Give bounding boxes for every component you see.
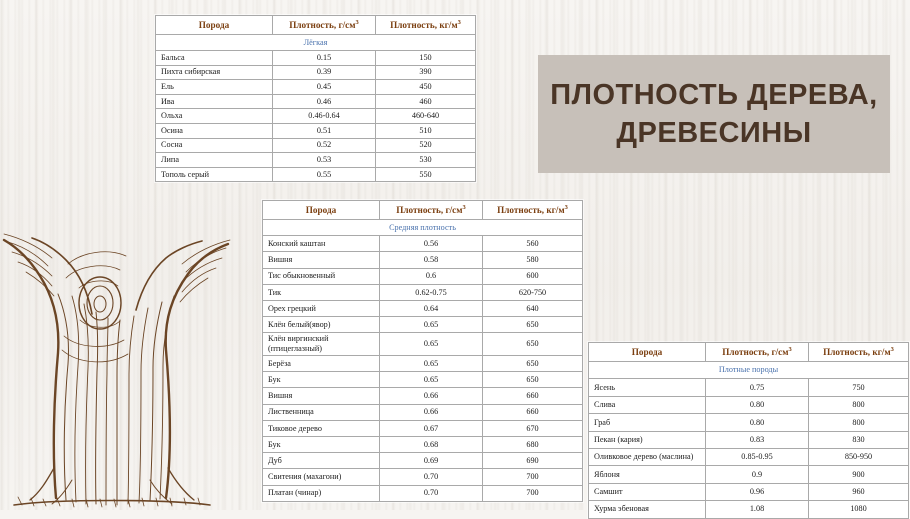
species-cell: Бук bbox=[263, 437, 380, 453]
density-g-header: Плотность, г/см3 bbox=[273, 16, 376, 35]
table-row: Орех грецкий0.64640 bbox=[263, 301, 583, 317]
density-table-light: ПородаПлотность, г/см3Плотность, кг/м3Лё… bbox=[155, 15, 476, 182]
density-kg-header: Плотность, кг/м3 bbox=[376, 16, 476, 35]
species-cell: Платан (чинар) bbox=[263, 485, 380, 501]
density-kg-header: Плотность, кг/м3 bbox=[809, 343, 909, 362]
density-g-cell: 0.46-0.64 bbox=[273, 109, 376, 124]
density-kg-cell: 580 bbox=[483, 252, 583, 268]
density-kg-cell: 660 bbox=[483, 404, 583, 420]
table-row: Ель0.45450 bbox=[156, 80, 476, 95]
density-g-cell: 0.45 bbox=[273, 80, 376, 95]
species-cell: Свитения (махагони) bbox=[263, 469, 380, 485]
page-title-line1: ПЛОТНОСТЬ ДЕРЕВА, bbox=[550, 76, 878, 114]
table-row: Слива0.80800 bbox=[589, 396, 909, 413]
density-g-cell: 0.96 bbox=[706, 483, 809, 500]
density-kg-cell: 900 bbox=[809, 466, 909, 483]
density-g-cell: 0.68 bbox=[380, 437, 483, 453]
species-cell: Осина bbox=[156, 123, 273, 138]
species-cell: Яблоня bbox=[589, 466, 706, 483]
density-g-header: Плотность, г/см3 bbox=[380, 201, 483, 220]
table-row: Берёза0.65650 bbox=[263, 356, 583, 372]
table-row: Ива0.46460 bbox=[156, 94, 476, 109]
species-cell: Клён белый(явор) bbox=[263, 317, 380, 333]
density-g-cell: 0.66 bbox=[380, 404, 483, 420]
table-row: Клён белый(явор)0.65650 bbox=[263, 317, 583, 333]
group-header-row: Средняя плотность bbox=[263, 220, 583, 236]
species-cell: Бальса bbox=[156, 50, 273, 65]
density-g-cell: 0.15 bbox=[273, 50, 376, 65]
density-kg-cell: 530 bbox=[376, 153, 476, 168]
table-row: Осина0.51510 bbox=[156, 123, 476, 138]
density-g-cell: 0.80 bbox=[706, 396, 809, 413]
density-g-cell: 0.66 bbox=[380, 388, 483, 404]
species-cell: Граб bbox=[589, 414, 706, 431]
species-cell: Пекан (кария) bbox=[589, 431, 706, 448]
density-kg-cell: 600 bbox=[483, 268, 583, 284]
density-kg-cell: 750 bbox=[809, 379, 909, 396]
density-kg-cell: 700 bbox=[483, 469, 583, 485]
species-header: Порода bbox=[589, 343, 706, 362]
table-row: Яблоня0.9900 bbox=[589, 466, 909, 483]
table-row: Самшит0.96960 bbox=[589, 483, 909, 500]
table-row: Тополь серый0.55550 bbox=[156, 167, 476, 182]
group-header-label: Лёгкая bbox=[156, 35, 476, 51]
density-kg-cell: 550 bbox=[376, 167, 476, 182]
density-g-cell: 0.6 bbox=[380, 268, 483, 284]
tree-trunk-illustration bbox=[0, 168, 240, 513]
density-g-cell: 0.9 bbox=[706, 466, 809, 483]
density-g-cell: 0.58 bbox=[380, 252, 483, 268]
density-kg-cell: 640 bbox=[483, 301, 583, 317]
species-cell: Тик bbox=[263, 284, 380, 300]
table-row: Свитения (махагони)0.70700 bbox=[263, 469, 583, 485]
density-kg-cell: 850-950 bbox=[809, 449, 909, 466]
density-kg-cell: 690 bbox=[483, 453, 583, 469]
species-cell: Слива bbox=[589, 396, 706, 413]
density-g-cell: 0.85-0.95 bbox=[706, 449, 809, 466]
density-kg-cell: 650 bbox=[483, 317, 583, 333]
species-cell: Вишня bbox=[263, 388, 380, 404]
density-kg-cell: 830 bbox=[809, 431, 909, 448]
table-row: Вишня0.58580 bbox=[263, 252, 583, 268]
density-kg-cell: 620-750 bbox=[483, 284, 583, 300]
group-header-row: Лёгкая bbox=[156, 35, 476, 51]
density-kg-cell: 670 bbox=[483, 420, 583, 436]
species-cell: Дуб bbox=[263, 453, 380, 469]
table-row: Бук0.68680 bbox=[263, 437, 583, 453]
species-cell: Тополь серый bbox=[156, 167, 273, 182]
species-cell: Ольха bbox=[156, 109, 273, 124]
page-title-plate: ПЛОТНОСТЬ ДЕРЕВА, ДРЕВЕСИНЫ bbox=[538, 55, 890, 173]
density-g-cell: 0.70 bbox=[380, 469, 483, 485]
density-g-cell: 0.56 bbox=[380, 236, 483, 252]
density-g-cell: 0.67 bbox=[380, 420, 483, 436]
density-kg-cell: 560 bbox=[483, 236, 583, 252]
table-row: Лиственница0.66660 bbox=[263, 404, 583, 420]
density-table-medium: ПородаПлотность, г/см3Плотность, кг/м3Ср… bbox=[262, 200, 583, 502]
species-cell: Тиковое дерево bbox=[263, 420, 380, 436]
table-row: Вишня0.66660 bbox=[263, 388, 583, 404]
species-cell: Вишня bbox=[263, 252, 380, 268]
density-g-cell: 0.65 bbox=[380, 333, 483, 356]
table-row: Липа0.53530 bbox=[156, 153, 476, 168]
density-g-cell: 0.70 bbox=[380, 485, 483, 501]
table-row: Сосна0.52520 bbox=[156, 138, 476, 153]
species-cell: Берёза bbox=[263, 356, 380, 372]
density-g-cell: 1.08 bbox=[706, 501, 809, 518]
page-title-line2: ДРЕВЕСИНЫ bbox=[616, 114, 811, 152]
table-row: Ольха0.46-0.64460-640 bbox=[156, 109, 476, 124]
table-row: Тис обыкновенный0.6600 bbox=[263, 268, 583, 284]
density-g-cell: 0.75 bbox=[706, 379, 809, 396]
table-row: Конский каштан0.56560 bbox=[263, 236, 583, 252]
density-kg-cell: 460 bbox=[376, 94, 476, 109]
density-g-cell: 0.65 bbox=[380, 356, 483, 372]
density-g-cell: 0.65 bbox=[380, 372, 483, 388]
density-kg-header: Плотность, кг/м3 bbox=[483, 201, 583, 220]
species-cell: Орех грецкий bbox=[263, 301, 380, 317]
density-g-cell: 0.64 bbox=[380, 301, 483, 317]
table-row: Пекан (кария)0.83830 bbox=[589, 431, 909, 448]
density-kg-cell: 700 bbox=[483, 485, 583, 501]
table-row: Хурма эбеновая1.081080 bbox=[589, 501, 909, 518]
density-kg-cell: 650 bbox=[483, 333, 583, 356]
table-row: Ясень0.75750 bbox=[589, 379, 909, 396]
density-kg-cell: 800 bbox=[809, 414, 909, 431]
density-kg-cell: 1080 bbox=[809, 501, 909, 518]
species-cell: Бук bbox=[263, 372, 380, 388]
density-g-header: Плотность, г/см3 bbox=[706, 343, 809, 362]
table-row: Платан (чинар)0.70700 bbox=[263, 485, 583, 501]
density-kg-cell: 800 bbox=[809, 396, 909, 413]
density-g-cell: 0.69 bbox=[380, 453, 483, 469]
density-g-cell: 0.65 bbox=[380, 317, 483, 333]
density-g-cell: 0.46 bbox=[273, 94, 376, 109]
density-kg-cell: 390 bbox=[376, 65, 476, 80]
density-kg-cell: 150 bbox=[376, 50, 476, 65]
density-kg-cell: 520 bbox=[376, 138, 476, 153]
density-g-cell: 0.83 bbox=[706, 431, 809, 448]
species-cell: Самшит bbox=[589, 483, 706, 500]
density-kg-cell: 650 bbox=[483, 356, 583, 372]
table-row: Граб0.80800 bbox=[589, 414, 909, 431]
density-g-cell: 0.39 bbox=[273, 65, 376, 80]
density-kg-cell: 460-640 bbox=[376, 109, 476, 124]
density-table-dense: ПородаПлотность, г/см3Плотность, кг/м3Пл… bbox=[588, 342, 909, 519]
species-cell: Пихта сибирская bbox=[156, 65, 273, 80]
species-cell: Тис обыкновенный bbox=[263, 268, 380, 284]
table-row: Дуб0.69690 bbox=[263, 453, 583, 469]
group-header-label: Средняя плотность bbox=[263, 220, 583, 236]
species-cell: Конский каштан bbox=[263, 236, 380, 252]
species-cell: Ива bbox=[156, 94, 273, 109]
species-cell: Ель bbox=[156, 80, 273, 95]
species-header: Порода bbox=[263, 201, 380, 220]
density-g-cell: 0.51 bbox=[273, 123, 376, 138]
species-cell: Хурма эбеновая bbox=[589, 501, 706, 518]
density-g-cell: 0.53 bbox=[273, 153, 376, 168]
table-row: Оливковое дерево (маслина)0.85-0.95850-9… bbox=[589, 449, 909, 466]
density-kg-cell: 650 bbox=[483, 372, 583, 388]
density-kg-cell: 450 bbox=[376, 80, 476, 95]
table-row: Пихта сибирская0.39390 bbox=[156, 65, 476, 80]
species-cell: Оливковое дерево (маслина) bbox=[589, 449, 706, 466]
species-header: Порода bbox=[156, 16, 273, 35]
species-cell: Лиственница bbox=[263, 404, 380, 420]
density-g-cell: 0.52 bbox=[273, 138, 376, 153]
species-cell: Сосна bbox=[156, 138, 273, 153]
table-row: Бук0.65650 bbox=[263, 372, 583, 388]
density-kg-cell: 660 bbox=[483, 388, 583, 404]
table-row: Клён виргинский (птицеглазный)0.65650 bbox=[263, 333, 583, 356]
group-header-row: Плотные породы bbox=[589, 362, 909, 379]
density-g-cell: 0.80 bbox=[706, 414, 809, 431]
density-g-cell: 0.62-0.75 bbox=[380, 284, 483, 300]
species-cell: Ясень bbox=[589, 379, 706, 396]
density-kg-cell: 680 bbox=[483, 437, 583, 453]
density-g-cell: 0.55 bbox=[273, 167, 376, 182]
table-row: Тиковое дерево0.67670 bbox=[263, 420, 583, 436]
species-cell: Липа bbox=[156, 153, 273, 168]
group-header-label: Плотные породы bbox=[589, 362, 909, 379]
density-kg-cell: 960 bbox=[809, 483, 909, 500]
table-row: Тик0.62-0.75620-750 bbox=[263, 284, 583, 300]
species-cell: Клён виргинский (птицеглазный) bbox=[263, 333, 380, 356]
table-row: Бальса0.15150 bbox=[156, 50, 476, 65]
density-kg-cell: 510 bbox=[376, 123, 476, 138]
